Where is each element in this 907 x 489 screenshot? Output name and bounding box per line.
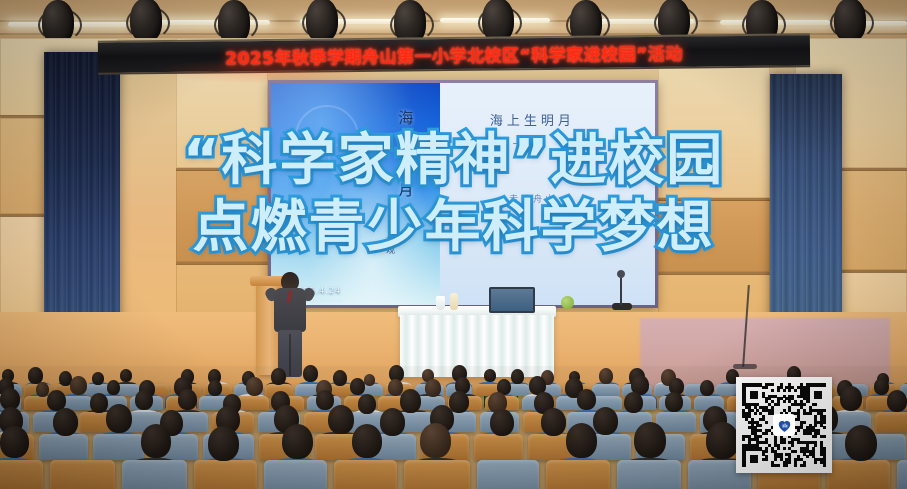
qr-finder-pattern xyxy=(742,447,762,467)
audience-member-head xyxy=(53,408,78,436)
auditorium-seat xyxy=(39,434,88,460)
blue-heart-logo-icon xyxy=(776,417,793,434)
auditorium-seat xyxy=(0,460,43,489)
audience-member-head xyxy=(706,422,739,459)
audience-member-head xyxy=(490,409,514,436)
led-banner-text: 2025年秋季学期舟山第一小学北校区“科学家进校园”活动 xyxy=(225,39,683,69)
slide-footer: 走进舟山 xyxy=(509,192,557,205)
water-bottle xyxy=(450,293,458,310)
auditorium-seat xyxy=(93,434,144,460)
auditorium-seat xyxy=(897,460,907,489)
wall-groove xyxy=(176,168,268,171)
auditorium-seat xyxy=(122,460,187,489)
audience-member-head xyxy=(120,369,132,382)
audience-member-head xyxy=(449,391,469,413)
audience-member-head xyxy=(92,372,104,385)
audience-member-head xyxy=(178,389,197,410)
audience-member-head xyxy=(599,368,613,384)
audience-member-head xyxy=(135,390,153,410)
projection-screen: 海上生明月 大观 2025.4.24 ZHOUSHAN SCIENCE 海上生明… xyxy=(271,83,655,305)
auditorium-seat xyxy=(50,460,115,489)
auditorium-seat xyxy=(404,460,470,489)
audience-member-head xyxy=(593,407,618,435)
audience-member-head xyxy=(141,424,171,458)
audience-member-head xyxy=(303,365,318,382)
audience-member-head xyxy=(358,394,376,414)
auditorium-seat xyxy=(474,434,523,460)
audience-member-head xyxy=(333,370,347,386)
auditorium-seat xyxy=(875,412,907,432)
audience-member-head xyxy=(511,369,524,384)
audience-member-head xyxy=(350,378,365,395)
audience-member-head xyxy=(845,425,877,461)
audience-member-head xyxy=(484,369,496,382)
audience-member-head xyxy=(282,424,313,459)
audience-member-head xyxy=(70,376,87,395)
audience-member-head xyxy=(90,393,108,413)
audience-member-head xyxy=(887,390,907,412)
wall-groove xyxy=(658,272,770,275)
qr-finder-pattern xyxy=(806,383,826,403)
cup xyxy=(436,296,445,310)
auditorium-seat xyxy=(617,460,681,489)
audience-member-head xyxy=(874,378,889,395)
audience-member-head xyxy=(420,423,451,458)
qr-code-canvas xyxy=(742,383,826,467)
slide-title: 海上生明月 xyxy=(490,110,575,129)
desk-microphone-stem xyxy=(620,275,622,305)
potted-plant xyxy=(561,296,574,309)
audience-member-head xyxy=(624,392,643,413)
audience-member-head xyxy=(0,426,29,458)
audience-member-head xyxy=(246,377,263,396)
audience-member-head xyxy=(425,379,441,397)
audience-member-head xyxy=(364,374,375,386)
audience-member-head xyxy=(840,386,862,411)
audience-member-head xyxy=(700,380,714,396)
auditorium-seat xyxy=(264,460,327,489)
audience-member-head xyxy=(380,408,405,436)
qr-finder-pattern xyxy=(742,383,762,403)
poster-decor xyxy=(328,141,366,179)
audience-member-head xyxy=(328,405,354,434)
wall-panel xyxy=(658,200,770,272)
laptop-screen xyxy=(489,287,535,313)
auditorium-seat xyxy=(592,384,620,396)
desk-microphone-base xyxy=(612,303,632,310)
projection-screen-frame: 海上生明月 大观 2025.4.24 ZHOUSHAN SCIENCE 海上生明… xyxy=(268,80,658,308)
qr-center-logo xyxy=(773,414,795,436)
poster-title: 海上生明月 xyxy=(395,110,416,200)
laptop xyxy=(487,287,533,311)
audience-member-head xyxy=(400,389,421,413)
auditorium-seat xyxy=(194,460,257,489)
audience-member-head xyxy=(577,389,596,410)
wall-groove xyxy=(658,198,770,201)
presenter xyxy=(270,272,310,377)
audience-member-head xyxy=(106,404,132,433)
poster-subtitle: 大观 xyxy=(383,234,396,256)
auditorium-seat xyxy=(334,460,397,489)
slide-subtitle: 二十年 xyxy=(498,136,543,152)
auditorium-scene: 2025年秋季学期舟山第一小学北校区“科学家进校园”活动 海上生明月 大观 20… xyxy=(0,0,907,489)
auditorium-seat xyxy=(546,460,610,489)
auditorium-seat xyxy=(477,460,539,489)
audience-member-head xyxy=(316,390,334,410)
auditorium-seat xyxy=(827,460,890,489)
audience-member-head xyxy=(566,423,597,458)
audience-member-head xyxy=(208,380,222,396)
audience-member-head xyxy=(352,424,382,458)
audience-member-head xyxy=(208,426,239,461)
qr-code[interactable] xyxy=(736,377,832,473)
audience-member-head xyxy=(271,368,286,385)
audience-member-head xyxy=(634,422,666,458)
wall-groove xyxy=(176,262,268,265)
audience-member-head xyxy=(107,380,120,395)
audience-member-head xyxy=(665,392,683,412)
desk-microphone-head xyxy=(617,270,625,278)
audience-member-head xyxy=(541,408,566,436)
wall-panel xyxy=(176,170,268,262)
